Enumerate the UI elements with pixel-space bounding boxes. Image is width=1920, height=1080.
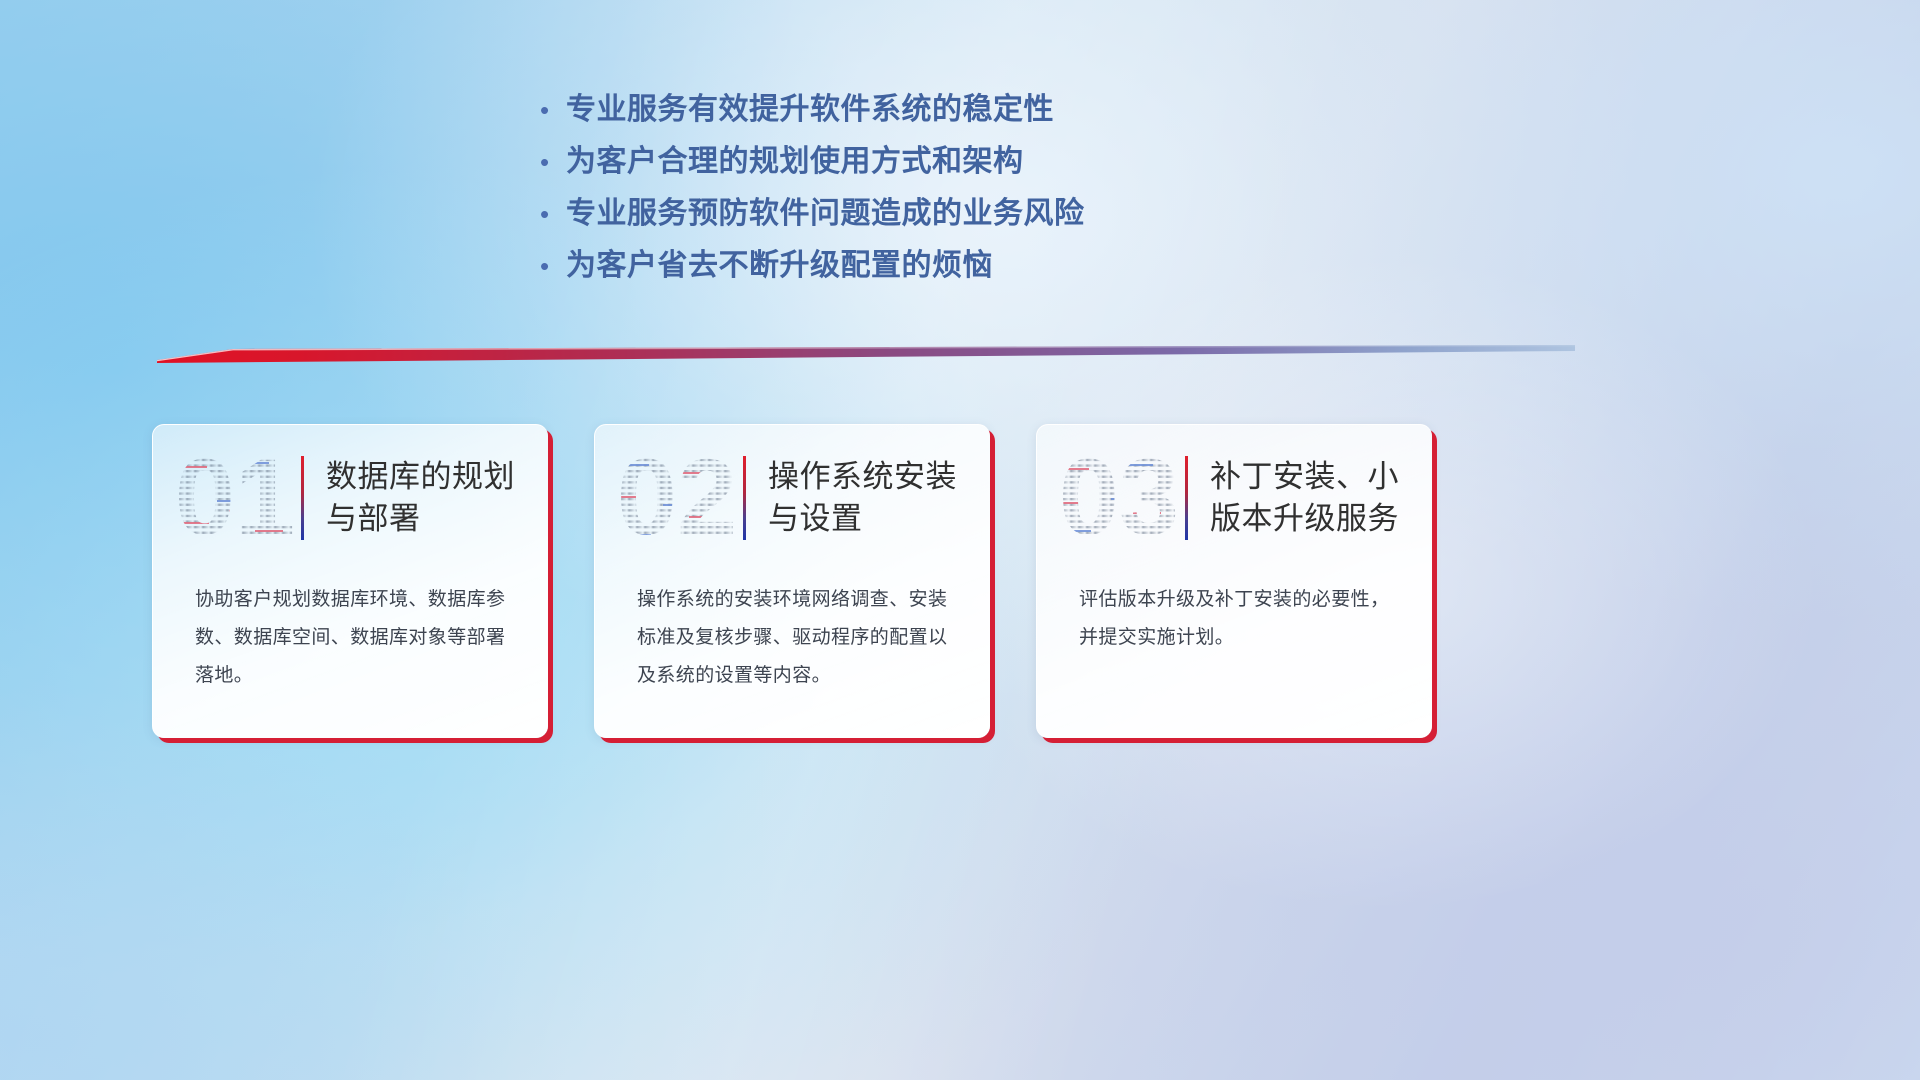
list-item: • 专业服务有效提升软件系统的稳定性 bbox=[540, 86, 1520, 138]
card-header: 03 03 bbox=[1037, 435, 1432, 561]
list-item-label: 专业服务有效提升软件系统的稳定性 bbox=[566, 86, 1054, 134]
bullet-dot-icon: • bbox=[540, 86, 566, 134]
list-item-label: 为客户省去不断升级配置的烦恼 bbox=[566, 242, 993, 290]
service-card[interactable]: 01 01 bbox=[152, 424, 548, 738]
card-title: 补丁安装、小版本升级服务 bbox=[1210, 456, 1420, 540]
card-title: 数据库的规划与部署 bbox=[326, 456, 526, 540]
slide-canvas: • 专业服务有效提升软件系统的稳定性 • 为客户合理的规划使用方式和架构 • 专… bbox=[0, 0, 1920, 1080]
list-item-label: 为客户合理的规划使用方式和架构 bbox=[566, 138, 1024, 186]
list-item: • 专业服务预防软件问题造成的业务风险 bbox=[540, 190, 1520, 242]
bullet-dot-icon: • bbox=[540, 242, 566, 290]
section-divider bbox=[155, 342, 1575, 364]
card-description: 操作系统的安装环境网络调查、安装标准及复核步骤、驱动程序的配置以及系统的设置等内… bbox=[637, 581, 957, 695]
card-title: 操作系统安装与设置 bbox=[768, 456, 968, 540]
card-accent-bar bbox=[1185, 456, 1188, 540]
list-item-label: 专业服务预防软件问题造成的业务风险 bbox=[566, 190, 1085, 238]
list-item: • 为客户合理的规划使用方式和架构 bbox=[540, 138, 1520, 190]
service-card[interactable]: 03 03 bbox=[1036, 424, 1432, 738]
bullet-dot-icon: • bbox=[540, 138, 566, 186]
card-description: 评估版本升级及补丁安装的必要性，并提交实施计划。 bbox=[1079, 581, 1399, 657]
bullet-dot-icon: • bbox=[540, 190, 566, 238]
card-number-striped-glyph: 01 01 bbox=[169, 442, 301, 554]
card-number-striped-glyph: 03 03 bbox=[1053, 442, 1185, 554]
service-card[interactable]: 02 02 bbox=[594, 424, 990, 738]
card-header: 01 01 bbox=[153, 435, 548, 561]
card-description: 协助客户规划数据库环境、数据库参数、数据库空间、数据库对象等部署落地。 bbox=[195, 581, 515, 695]
card-number-striped-glyph: 02 02 bbox=[611, 442, 743, 554]
service-card-list: 01 01 bbox=[152, 424, 1852, 738]
list-item: • 为客户省去不断升级配置的烦恼 bbox=[540, 242, 1520, 294]
card-header: 02 02 bbox=[595, 435, 990, 561]
benefit-bullet-list: • 专业服务有效提升软件系统的稳定性 • 为客户合理的规划使用方式和架构 • 专… bbox=[540, 86, 1520, 294]
card-accent-bar bbox=[301, 456, 304, 540]
card-accent-bar bbox=[743, 456, 746, 540]
